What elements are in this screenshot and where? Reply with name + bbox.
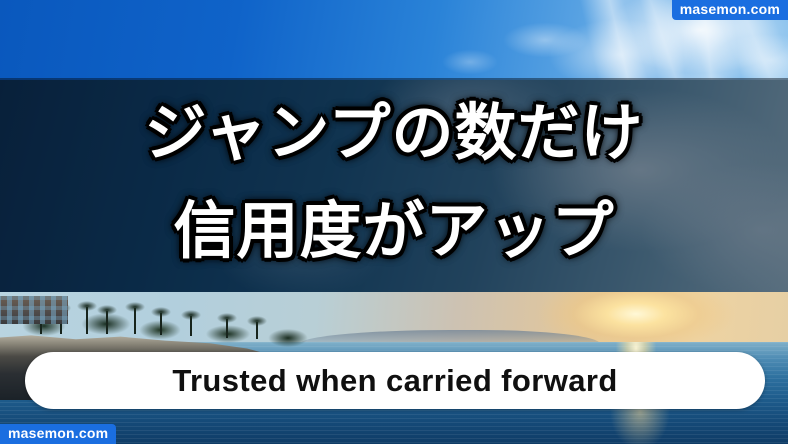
caption-text: Trusted when carried forward <box>172 363 617 399</box>
image-canvas: ジャンプの数だけ 信用度がアップ Trusted when carried fo… <box>0 0 788 444</box>
palm-tree-icon <box>134 308 136 334</box>
palm-tree-icon <box>256 322 258 339</box>
caption-banner: Trusted when carried forward <box>25 352 765 409</box>
palm-tree-icon <box>106 311 108 334</box>
dark-overlay-band <box>0 78 788 292</box>
sky-region <box>0 0 788 80</box>
cliff-building <box>0 296 68 324</box>
palm-tree-icon <box>226 319 228 338</box>
watermark-bottom-left: masemon.com <box>0 424 116 444</box>
palm-tree-icon <box>190 316 192 336</box>
palm-tree-icon <box>160 313 162 335</box>
watermark-top-right: masemon.com <box>672 0 788 20</box>
building-windows <box>0 296 68 324</box>
palm-tree-icon <box>86 307 88 334</box>
